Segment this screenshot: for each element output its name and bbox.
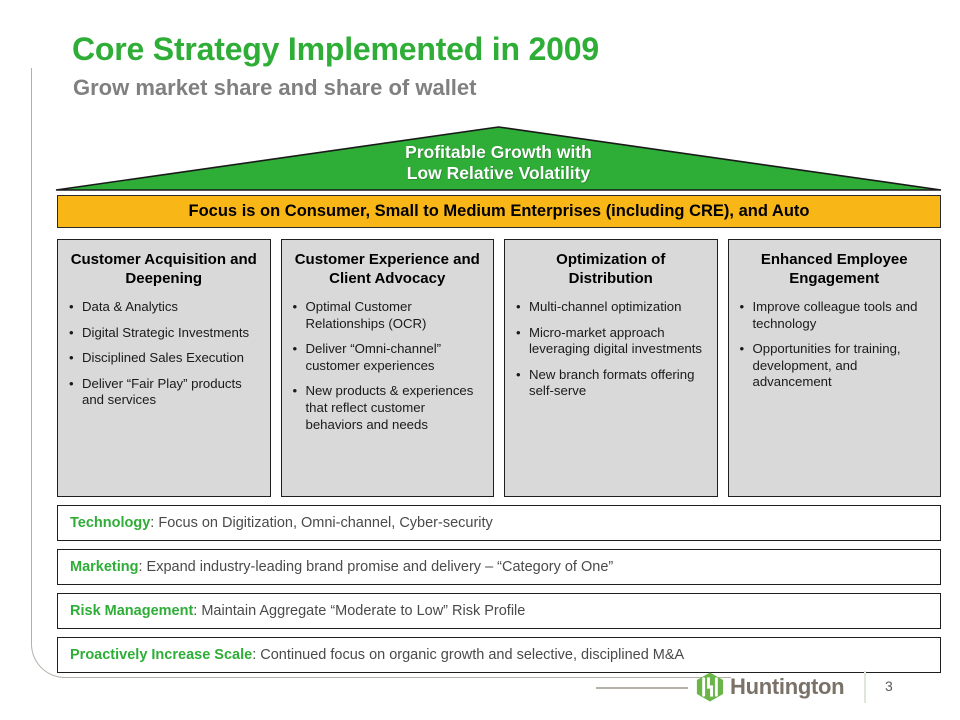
pillar-bullet-list: •Optimal Customer Relationships (OCR) •D… — [290, 299, 486, 442]
bullet-glyph-icon: • — [516, 299, 521, 316]
huntington-hexagon-icon — [696, 672, 724, 702]
roof-line-2: Low Relative Volatility — [55, 163, 942, 184]
page-number: 3 — [885, 678, 893, 694]
list-item-text: Opportunities for training, development,… — [753, 341, 901, 389]
footer-vertical-divider — [864, 671, 866, 703]
pillar-panel-employee-engagement: Enhanced Employee Engagement •Improve co… — [728, 239, 942, 497]
list-item: •New branch formats offering self-serve — [513, 367, 709, 400]
enabler-bars: Technology: Focus on Digitization, Omni-… — [57, 505, 941, 681]
enabler-bar-risk-management: Risk Management: Maintain Aggregate “Mod… — [57, 593, 941, 629]
enabler-description: : Maintain Aggregate “Moderate to Low” R… — [193, 603, 525, 619]
bullet-glyph-icon: • — [516, 325, 521, 342]
bullet-glyph-icon: • — [293, 383, 298, 400]
pillar-panel-customer-acquisition: Customer Acquisition and Deepening •Data… — [57, 239, 271, 497]
list-item: •New products & experiences that reflect… — [290, 383, 486, 433]
bullet-glyph-icon: • — [69, 299, 74, 316]
bullet-glyph-icon: • — [293, 299, 298, 316]
bullet-glyph-icon: • — [69, 325, 74, 342]
list-item: •Data & Analytics — [66, 299, 262, 316]
huntington-logo: Huntington — [696, 672, 844, 702]
pillar-panel-optimization-distribution: Optimization of Distribution •Multi-chan… — [504, 239, 718, 497]
slide: Core Strategy Implemented in 2009 Grow m… — [0, 0, 960, 720]
enabler-bar-marketing: Marketing: Expand industry-leading brand… — [57, 549, 941, 585]
roof-text: Profitable Growth with Low Relative Vola… — [55, 142, 942, 184]
pillar-panels: Customer Acquisition and Deepening •Data… — [57, 239, 941, 497]
list-item-text: Optimal Customer Relationships (OCR) — [306, 299, 427, 331]
list-item-text: Deliver “Fair Play” products and service… — [82, 376, 242, 408]
list-item-text: Disciplined Sales Execution — [82, 350, 244, 365]
enabler-label: Technology — [70, 515, 150, 531]
enabler-label: Proactively Increase Scale — [70, 647, 252, 663]
enabler-description: : Focus on Digitization, Omni-channel, C… — [150, 515, 493, 531]
list-item: •Multi-channel optimization — [513, 299, 709, 316]
focus-banner: Focus is on Consumer, Small to Medium En… — [57, 195, 941, 228]
pillar-title: Enhanced Employee Engagement — [737, 250, 933, 288]
list-item: •Digital Strategic Investments — [66, 325, 262, 342]
huntington-wordmark: Huntington — [730, 676, 844, 698]
enabler-bar-increase-scale: Proactively Increase Scale: Continued fo… — [57, 637, 941, 673]
roof-triangle: Profitable Growth with Low Relative Vola… — [55, 126, 942, 192]
list-item-text: Micro-market approach leveraging digital… — [529, 325, 702, 357]
footer-divider-rule — [596, 687, 688, 689]
list-item-text: Improve colleague tools and technology — [753, 299, 918, 331]
enabler-description: : Expand industry-leading brand promise … — [139, 559, 614, 575]
pillar-bullet-list: •Data & Analytics •Digital Strategic Inv… — [66, 299, 262, 418]
list-item: •Deliver “Fair Play” products and servic… — [66, 376, 262, 409]
list-item-text: Digital Strategic Investments — [82, 325, 249, 340]
bullet-glyph-icon: • — [740, 341, 745, 358]
roof-line-1: Profitable Growth with — [55, 142, 942, 163]
pillar-title: Customer Acquisition and Deepening — [66, 250, 262, 288]
bullet-glyph-icon: • — [293, 341, 298, 358]
bullet-glyph-icon: • — [69, 350, 74, 367]
list-item: •Deliver “Omni-channel” customer experie… — [290, 341, 486, 374]
bullet-glyph-icon: • — [740, 299, 745, 316]
enabler-label: Marketing — [70, 559, 139, 575]
list-item: •Micro-market approach leveraging digita… — [513, 325, 709, 358]
list-item: •Improve colleague tools and technology — [737, 299, 933, 332]
list-item-text: Deliver “Omni-channel” customer experien… — [306, 341, 442, 373]
list-item: •Disciplined Sales Execution — [66, 350, 262, 367]
pillar-panel-customer-experience: Customer Experience and Client Advocacy … — [281, 239, 495, 497]
list-item-text: New products & experiences that reflect … — [306, 383, 474, 431]
list-item: •Optimal Customer Relationships (OCR) — [290, 299, 486, 332]
page-title: Core Strategy Implemented in 2009 — [72, 31, 599, 68]
enabler-bar-technology: Technology: Focus on Digitization, Omni-… — [57, 505, 941, 541]
enabler-description: : Continued focus on organic growth and … — [252, 647, 684, 663]
focus-banner-text: Focus is on Consumer, Small to Medium En… — [189, 202, 810, 221]
pillar-title: Customer Experience and Client Advocacy — [290, 250, 486, 288]
bullet-glyph-icon: • — [516, 367, 521, 384]
pillar-bullet-list: •Multi-channel optimization •Micro-marke… — [513, 299, 709, 409]
list-item: •Opportunities for training, development… — [737, 341, 933, 391]
pillar-bullet-list: •Improve colleague tools and technology … — [737, 299, 933, 400]
enabler-label: Risk Management — [70, 603, 193, 619]
page-subtitle: Grow market share and share of wallet — [73, 75, 476, 101]
bullet-glyph-icon: • — [69, 376, 74, 393]
list-item-text: Multi-channel optimization — [529, 299, 681, 314]
list-item-text: New branch formats offering self-serve — [529, 367, 694, 399]
list-item-text: Data & Analytics — [82, 299, 178, 314]
pillar-title: Optimization of Distribution — [513, 250, 709, 288]
